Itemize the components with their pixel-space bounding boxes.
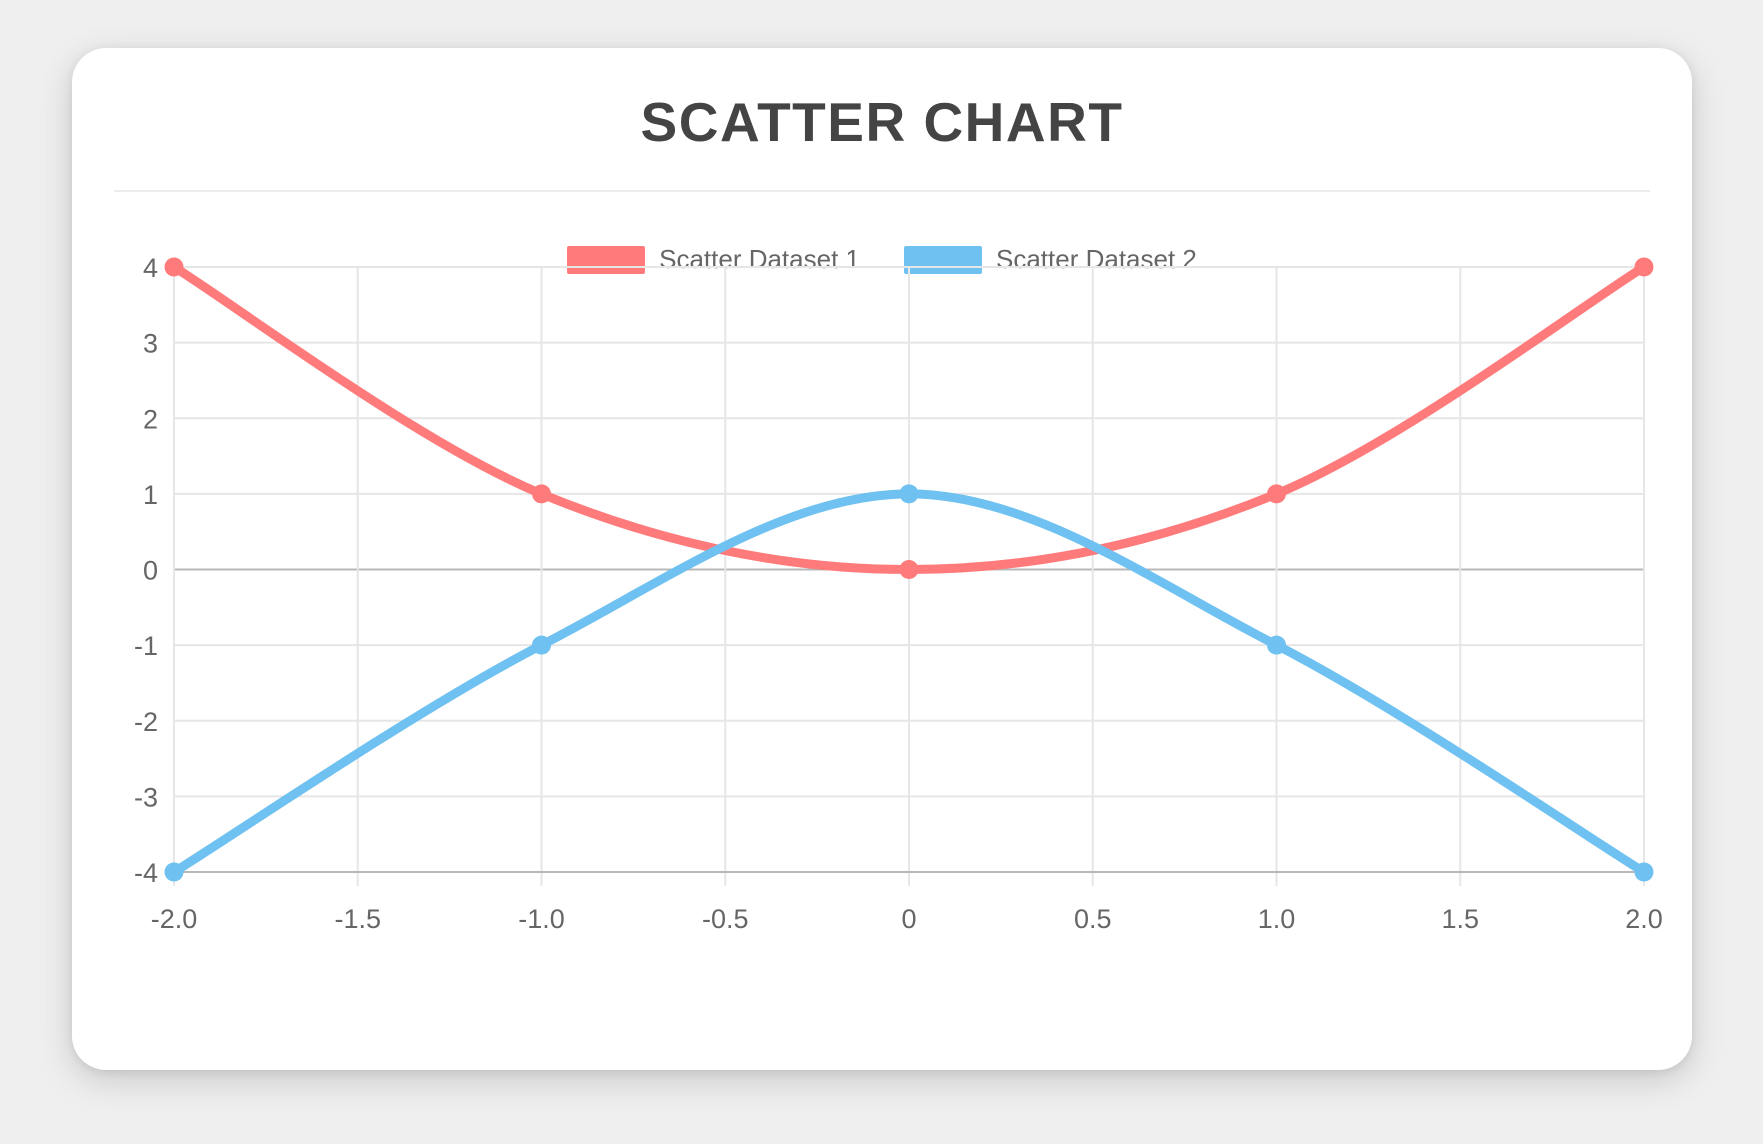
y-tick-label: 2 [143,404,158,434]
x-tick-label: -2.0 [151,904,198,934]
y-tick-label: 1 [143,480,158,510]
data-point-marker[interactable] [532,636,551,655]
data-point-marker[interactable] [165,258,184,277]
plot-area[interactable]: 43210-1-2-3-4 -2.0-1.5-1.0-0.500.51.01.5… [72,48,1692,1070]
data-point-marker[interactable] [1267,636,1286,655]
data-point-marker[interactable] [900,484,919,503]
y-tick-label: -1 [134,631,158,661]
chart-canvas[interactable]: 43210-1-2-3-4 -2.0-1.5-1.0-0.500.51.01.5… [72,48,1692,1070]
x-tick-label: 0 [901,904,916,934]
x-tick-label: 0.5 [1074,904,1112,934]
y-tick-label: -3 [134,782,158,812]
y-tick-label: -4 [134,858,158,888]
x-tick-label: 1.0 [1258,904,1296,934]
data-point-marker[interactable] [1635,863,1654,882]
y-tick-label: 3 [143,329,158,359]
x-axis-tick-labels: -2.0-1.5-1.0-0.500.51.01.52.0 [151,904,1663,934]
x-tick-label: 2.0 [1625,904,1663,934]
y-tick-label: 0 [143,556,158,586]
data-point-marker[interactable] [532,484,551,503]
data-point-marker[interactable] [1635,258,1654,277]
x-tick-label: -1.0 [518,904,565,934]
y-axis-tick-labels: 43210-1-2-3-4 [134,253,158,888]
chart-card: SCATTER CHART Scatter Dataset 1 Scatter … [72,48,1692,1070]
data-point-marker[interactable] [900,560,919,579]
page-background: SCATTER CHART Scatter Dataset 1 Scatter … [0,0,1763,1144]
data-point-marker[interactable] [165,863,184,882]
x-tick-label: 1.5 [1441,904,1479,934]
x-tick-label: -1.5 [334,904,381,934]
y-tick-label: 4 [143,253,158,283]
x-tick-label: -0.5 [702,904,749,934]
y-tick-label: -2 [134,707,158,737]
data-point-marker[interactable] [1267,484,1286,503]
